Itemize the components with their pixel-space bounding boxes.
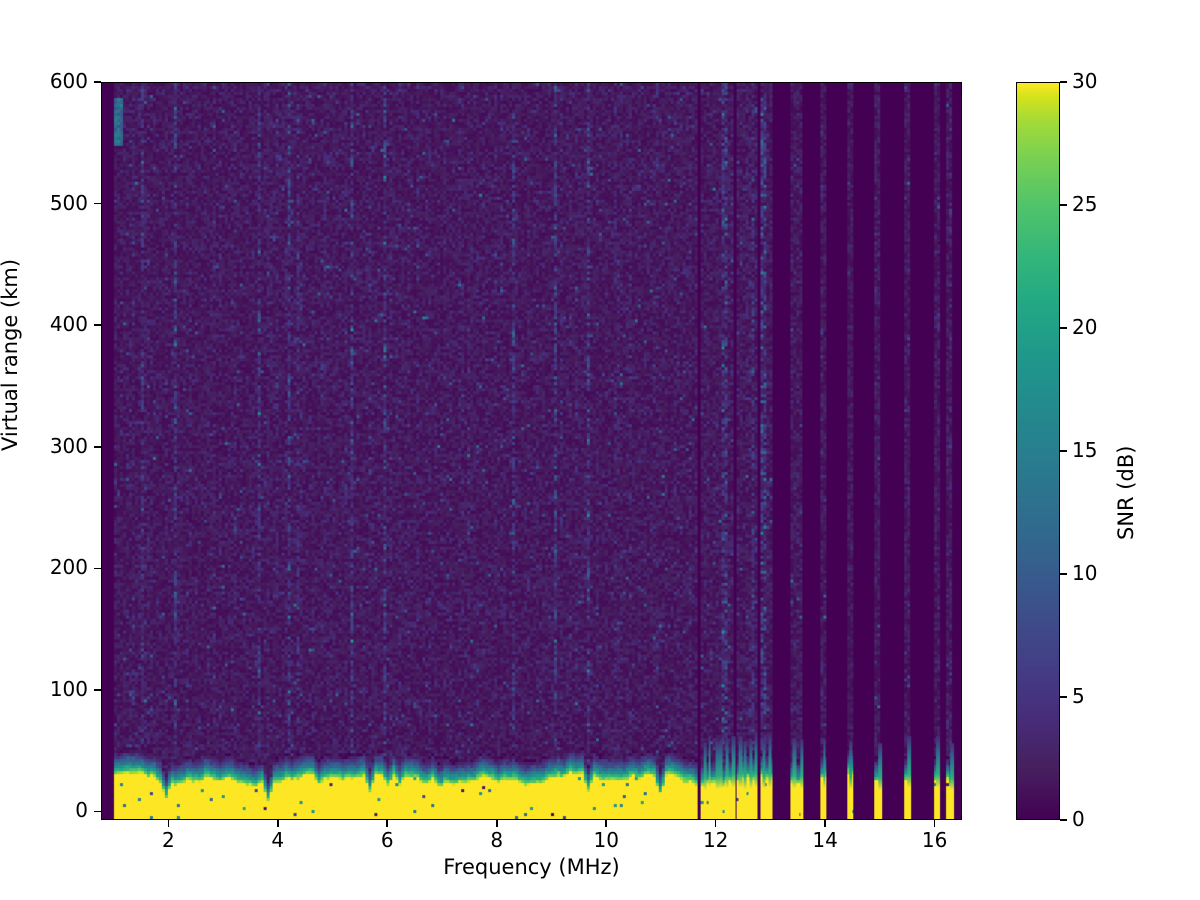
y-tick-label: 300 bbox=[0, 434, 88, 458]
x-tick-label: 12 bbox=[686, 828, 746, 852]
y-tick-label: 0 bbox=[0, 798, 88, 822]
y-tick-mark bbox=[94, 203, 101, 205]
x-axis-label: Frequency (MHz) bbox=[101, 855, 962, 879]
y-tick-label: 100 bbox=[0, 677, 88, 701]
x-tick-mark bbox=[605, 820, 607, 827]
x-tick-label: 14 bbox=[795, 828, 855, 852]
y-axis-label: Virtual range (km) bbox=[0, 259, 22, 451]
y-tick-mark bbox=[94, 689, 101, 691]
x-tick-label: 10 bbox=[576, 828, 636, 852]
colorbar-tick-label: 20 bbox=[1072, 315, 1097, 339]
colorbar-tick-mark bbox=[1060, 819, 1067, 821]
y-tick-label: 200 bbox=[0, 555, 88, 579]
x-tick-label: 4 bbox=[248, 828, 308, 852]
y-tick-label: 400 bbox=[0, 312, 88, 336]
y-tick-label: 600 bbox=[0, 69, 88, 93]
colorbar-tick-label: 5 bbox=[1072, 684, 1085, 708]
y-tick-mark bbox=[94, 446, 101, 448]
colorbar-tick-mark bbox=[1060, 204, 1067, 206]
ionogram-figure: IRF Kiruna Ionosonde KI167 2025-10-18 03… bbox=[0, 0, 1200, 900]
x-tick-label: 2 bbox=[138, 828, 198, 852]
x-tick-mark bbox=[496, 820, 498, 827]
colorbar bbox=[1016, 82, 1060, 820]
colorbar-tick-label: 10 bbox=[1072, 561, 1097, 585]
y-tick-mark bbox=[94, 568, 101, 570]
colorbar-tick-label: 15 bbox=[1072, 438, 1097, 462]
x-tick-label: 8 bbox=[467, 828, 527, 852]
plot-axes bbox=[101, 82, 962, 820]
colorbar-label: SNR (dB) bbox=[1114, 446, 1138, 540]
colorbar-tick-mark bbox=[1060, 573, 1067, 575]
colorbar-tick-label: 30 bbox=[1072, 69, 1097, 93]
y-tick-mark bbox=[94, 811, 101, 813]
x-tick-mark bbox=[277, 820, 279, 827]
y-tick-mark bbox=[94, 81, 101, 83]
y-tick-label: 500 bbox=[0, 191, 88, 215]
colorbar-tick-label: 25 bbox=[1072, 192, 1097, 216]
x-tick-label: 6 bbox=[357, 828, 417, 852]
x-tick-mark bbox=[824, 820, 826, 827]
colorbar-tick-mark bbox=[1060, 81, 1067, 83]
x-tick-mark bbox=[386, 820, 388, 827]
x-tick-label: 16 bbox=[905, 828, 965, 852]
colorbar-tick-mark bbox=[1060, 450, 1067, 452]
ionogram-heatmap bbox=[102, 83, 961, 819]
x-tick-mark bbox=[168, 820, 170, 827]
colorbar-tick-mark bbox=[1060, 327, 1067, 329]
colorbar-tick-mark bbox=[1060, 696, 1067, 698]
colorbar-tick-label: 0 bbox=[1072, 807, 1085, 831]
x-tick-mark bbox=[715, 820, 717, 827]
y-tick-mark bbox=[94, 324, 101, 326]
x-tick-mark bbox=[934, 820, 936, 827]
